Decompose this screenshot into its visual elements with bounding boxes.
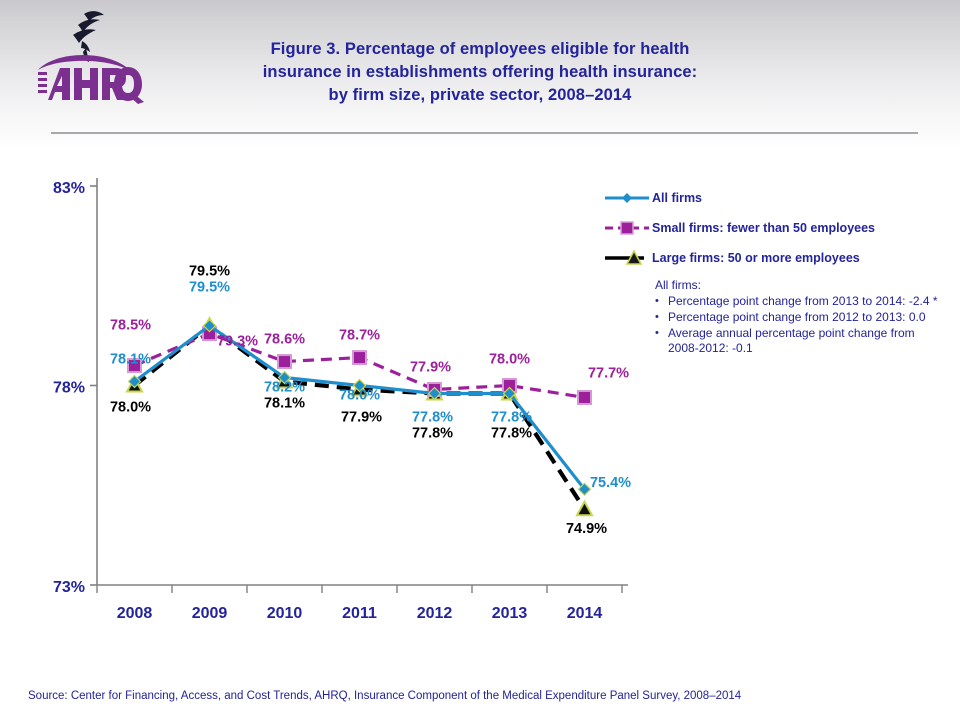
x-axis-tick-label: 2013 bbox=[492, 605, 528, 622]
data-point-marker bbox=[278, 355, 291, 368]
data-label: 77.8% bbox=[491, 409, 532, 425]
source-note: Source: Center for Financing, Access, an… bbox=[28, 690, 928, 702]
bullet-icon: • bbox=[655, 310, 668, 325]
title-divider bbox=[51, 132, 918, 134]
legend-label-small-firms: Small firms: fewer than 50 employees bbox=[652, 221, 875, 235]
ahrq-logo-svg bbox=[26, 8, 150, 106]
legend-label-all-firms: All firms bbox=[652, 191, 702, 205]
data-label: 75.4% bbox=[590, 475, 631, 491]
data-label: 78.6% bbox=[264, 332, 305, 348]
annotation-text: Average annual percentage point change f… bbox=[668, 326, 945, 355]
data-label: 78.0% bbox=[489, 352, 530, 368]
y-axis-tick-label: 83% bbox=[53, 180, 85, 197]
annotation-text: Percentage point change from 2013 to 201… bbox=[668, 294, 945, 309]
legend-key-all-firms bbox=[604, 189, 650, 207]
x-axis-tick-label: 2009 bbox=[192, 605, 228, 622]
annotation-item: • Average annual percentage point change… bbox=[655, 326, 945, 355]
chart-annotations: All firms: • Percentage point change fro… bbox=[655, 278, 945, 355]
legend-item-large-firms[interactable]: Large firms: 50 or more employees bbox=[604, 243, 954, 273]
data-label: 78.2% bbox=[264, 380, 305, 396]
page-title-line-2: insurance in establishments offering hea… bbox=[180, 61, 780, 84]
data-label: 77.8% bbox=[491, 425, 532, 441]
y-axis-tick-label: 73% bbox=[53, 579, 85, 596]
y-axis-tick-label: 78% bbox=[53, 380, 85, 397]
data-label: 78.5% bbox=[110, 318, 151, 334]
ahrq-logo bbox=[26, 8, 150, 106]
data-label: 77.8% bbox=[412, 409, 453, 425]
data-label: 77.9% bbox=[410, 359, 451, 375]
data-label: 77.9% bbox=[341, 409, 382, 425]
bullet-icon: • bbox=[655, 294, 668, 309]
data-label: 77.8% bbox=[412, 425, 453, 441]
data-label: 78.1% bbox=[110, 352, 151, 368]
ahrq-wordmark bbox=[38, 55, 144, 104]
chart-area: 83%78%73%200820092010201120122013201478.… bbox=[0, 150, 960, 670]
data-point-marker bbox=[577, 502, 592, 516]
hhs-eagle-icon bbox=[73, 11, 104, 62]
data-label: 77.7% bbox=[588, 365, 629, 381]
data-label: 79.5% bbox=[189, 264, 230, 280]
series-all-firms bbox=[129, 320, 591, 496]
x-axis-tick-label: 2011 bbox=[342, 605, 377, 622]
data-point-marker bbox=[578, 391, 591, 404]
data-label: 78.1% bbox=[264, 396, 305, 412]
page-title-line-3: by firm size, private sector, 2008–2014 bbox=[180, 84, 780, 107]
legend-label-large-firms: Large firms: 50 or more employees bbox=[652, 251, 860, 265]
x-axis-tick-label: 2010 bbox=[267, 605, 303, 622]
legend-key-small-firms bbox=[604, 219, 650, 237]
data-label: 74.9% bbox=[566, 521, 607, 537]
legend-key-large-firms bbox=[604, 249, 650, 267]
data-label: 79.3% bbox=[217, 334, 258, 350]
page-title: Figure 3. Percentage of employees eligib… bbox=[180, 38, 780, 107]
data-label: 78.0% bbox=[110, 400, 151, 416]
data-label: 78.0% bbox=[339, 388, 380, 404]
annotation-item: • Percentage point change from 2013 to 2… bbox=[655, 294, 945, 309]
x-axis-tick-label: 2012 bbox=[417, 605, 453, 622]
data-label: 78.7% bbox=[339, 328, 380, 344]
legend-item-small-firms[interactable]: Small firms: fewer than 50 employees bbox=[604, 213, 954, 243]
page-title-line-1: Figure 3. Percentage of employees eligib… bbox=[180, 38, 780, 61]
chart-legend: All firms Small firms: fewer than 50 emp… bbox=[604, 183, 954, 273]
x-axis-tick-label: 2008 bbox=[117, 605, 153, 622]
annotation-heading: All firms: bbox=[655, 278, 945, 293]
annotation-text: Percentage point change from 2012 to 201… bbox=[668, 310, 945, 325]
legend-item-all-firms[interactable]: All firms bbox=[604, 183, 954, 213]
data-point-marker bbox=[353, 351, 366, 364]
x-axis-tick-label: 2014 bbox=[567, 605, 603, 622]
data-label: 79.5% bbox=[189, 280, 230, 296]
bullet-icon: • bbox=[655, 326, 668, 355]
annotation-item: • Percentage point change from 2012 to 2… bbox=[655, 310, 945, 325]
